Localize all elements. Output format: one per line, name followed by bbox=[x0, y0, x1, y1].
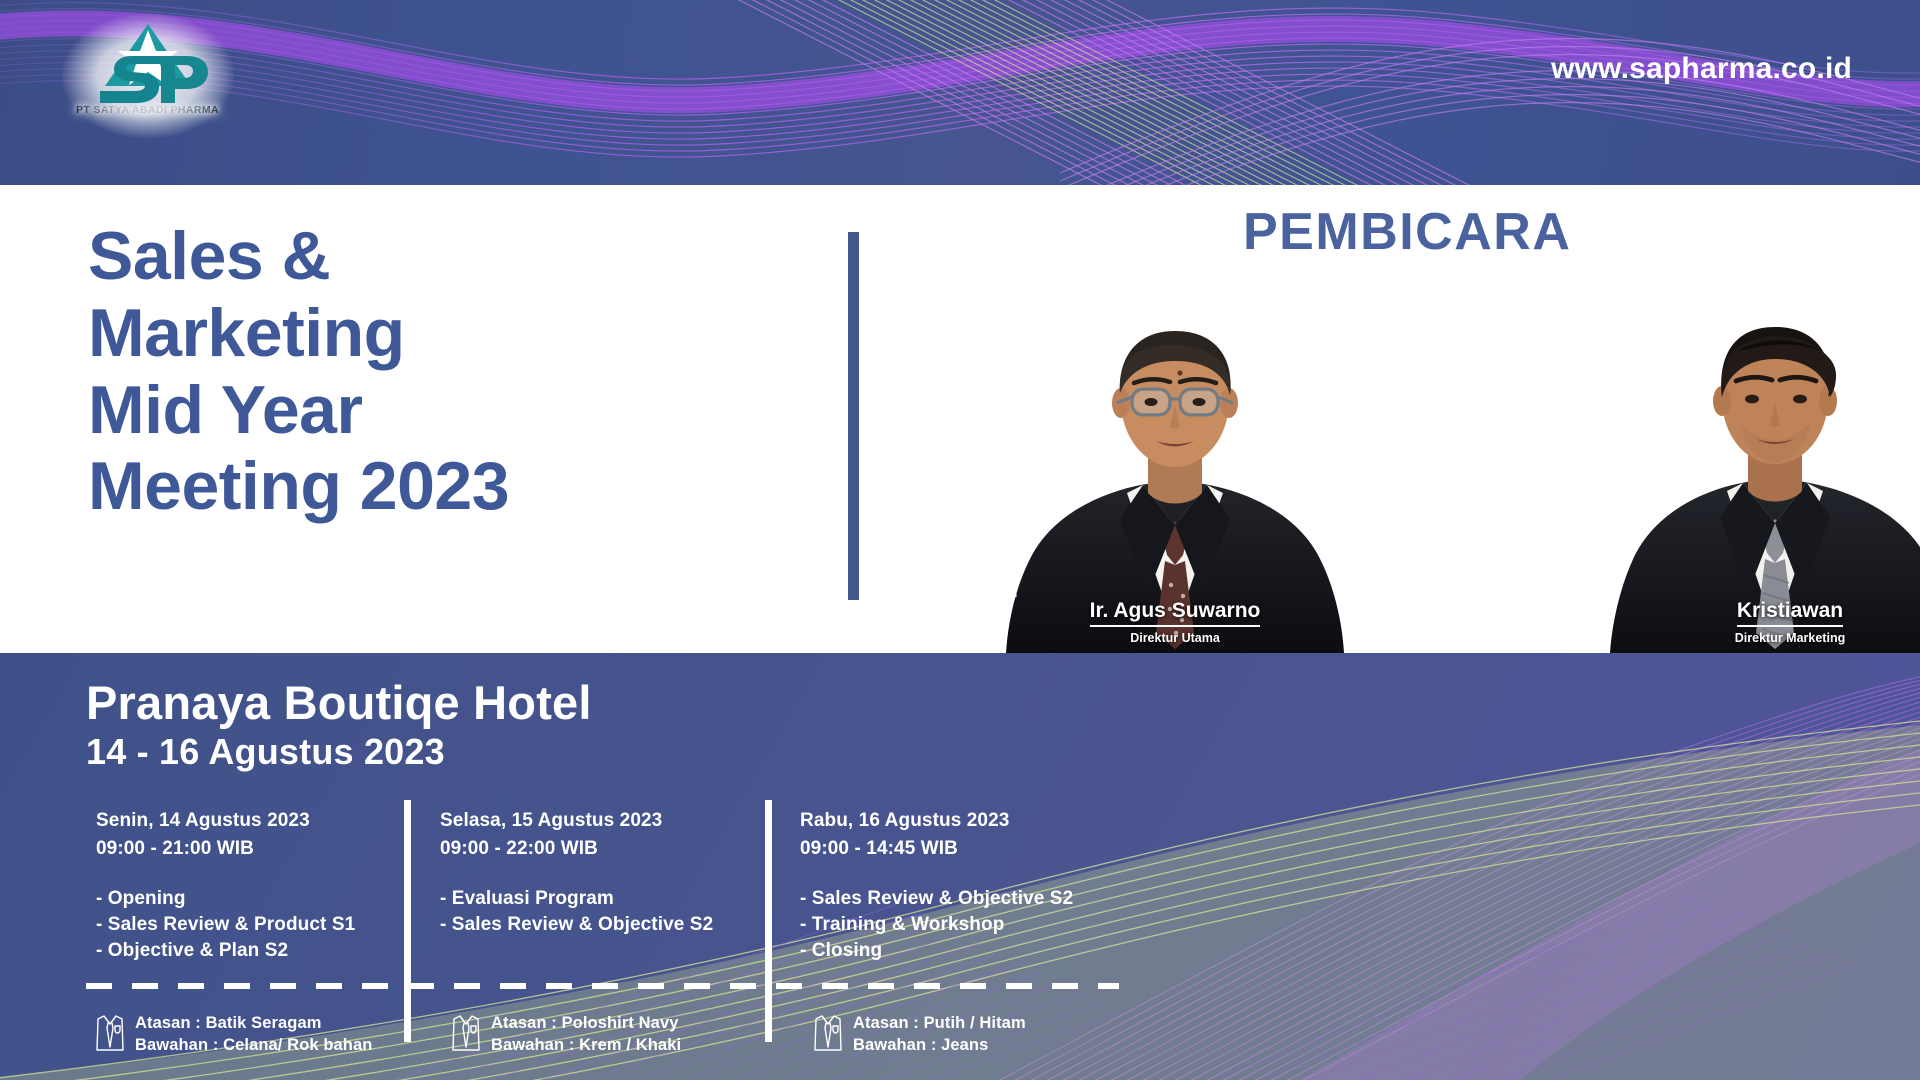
agenda-list: - Opening - Sales Review & Product S1 - … bbox=[96, 886, 396, 964]
column-divider-1 bbox=[404, 800, 411, 1042]
dress-bottom: Bawahan : Celana/ Rok bahan bbox=[135, 1034, 372, 1056]
agenda-list: - Sales Review & Objective S2 - Training… bbox=[800, 886, 1120, 964]
speaker-role: Direktur Utama bbox=[980, 631, 1370, 645]
main-section: Sales & Marketing Mid Year Meeting 2023 … bbox=[0, 185, 1920, 653]
agenda-list: - Evaluasi Program - Sales Review & Obje… bbox=[440, 886, 760, 938]
shirt-tie-icon bbox=[812, 1013, 844, 1053]
header-band: PT SATYA ABADI PHARMA www.sapharma.co.id bbox=[0, 0, 1920, 185]
speaker-role: Direktur Marketing bbox=[1600, 631, 1920, 645]
agenda-item: - Sales Review & Objective S2 bbox=[440, 912, 760, 938]
dress-code-1: Atasan : Batik Seragam Bawahan : Celana/… bbox=[94, 1012, 372, 1056]
sap-triangle-star-logo-icon bbox=[73, 20, 223, 108]
dress-top: Atasan : Poloshirt Navy bbox=[491, 1012, 681, 1034]
column-divider-2 bbox=[765, 800, 772, 1042]
agenda-item: - Closing bbox=[800, 938, 1120, 964]
title-line-1: Sales & bbox=[88, 218, 509, 295]
header-wave-decoration bbox=[0, 0, 1920, 185]
schedule-column-3: Rabu, 16 Agustus 2023 09:00 - 14:45 WIB … bbox=[800, 810, 1120, 964]
schedule-day: Rabu, 16 Agustus 2023 bbox=[800, 810, 1120, 832]
schedule-time: 09:00 - 22:00 WIB bbox=[440, 838, 760, 860]
agenda-item: - Evaluasi Program bbox=[440, 886, 760, 912]
title-line-4: Meeting 2023 bbox=[88, 448, 509, 525]
schedule-time: 09:00 - 14:45 WIB bbox=[800, 838, 1120, 860]
company-logo: PT SATYA ABADI PHARMA bbox=[70, 20, 225, 130]
schedule-day: Senin, 14 Agustus 2023 bbox=[96, 810, 396, 832]
dress-code-3: Atasan : Putih / Hitam Bawahan : Jeans bbox=[812, 1012, 1026, 1056]
poster-canvas: PT SATYA ABADI PHARMA www.sapharma.co.id… bbox=[0, 0, 1920, 1080]
agenda-item: - Sales Review & Objective S2 bbox=[800, 886, 1120, 912]
dress-bottom: Bawahan : Jeans bbox=[853, 1034, 1026, 1056]
dress-code-2: Atasan : Poloshirt Navy Bawahan : Krem /… bbox=[450, 1012, 681, 1056]
agenda-item: - Objective & Plan S2 bbox=[96, 938, 396, 964]
schedule-day: Selasa, 15 Agustus 2023 bbox=[440, 810, 760, 832]
speaker-card-1: Ir. Agus Suwarno Direktur Utama bbox=[980, 293, 1370, 653]
dress-code-text: Atasan : Batik Seragam Bawahan : Celana/… bbox=[135, 1012, 372, 1056]
agenda-item: - Training & Workshop bbox=[800, 912, 1120, 938]
speaker-caption-1: Ir. Agus Suwarno Direktur Utama bbox=[980, 599, 1370, 645]
shirt-tie-icon bbox=[94, 1013, 126, 1053]
agenda-item: - Sales Review & Product S1 bbox=[96, 912, 396, 938]
dress-bottom: Bawahan : Krem / Khaki bbox=[491, 1034, 681, 1056]
agenda-item: - Opening bbox=[96, 886, 396, 912]
speakers-heading: PEMBICARA bbox=[1243, 202, 1571, 262]
dress-top: Atasan : Putih / Hitam bbox=[853, 1012, 1026, 1034]
dashed-separator bbox=[86, 983, 1119, 989]
vertical-divider bbox=[848, 232, 859, 600]
page-title: Sales & Marketing Mid Year Meeting 2023 bbox=[88, 218, 509, 525]
title-line-3: Mid Year bbox=[88, 372, 509, 449]
footer-band: Pranaya Boutiqe Hotel 14 - 16 Agustus 20… bbox=[0, 653, 1920, 1080]
dress-top: Atasan : Batik Seragam bbox=[135, 1012, 372, 1034]
dress-code-text: Atasan : Putih / Hitam Bawahan : Jeans bbox=[853, 1012, 1026, 1056]
schedule-time: 09:00 - 21:00 WIB bbox=[96, 838, 396, 860]
speaker-name: Ir. Agus Suwarno bbox=[1090, 599, 1261, 627]
schedule-column-1: Senin, 14 Agustus 2023 09:00 - 21:00 WIB… bbox=[96, 810, 396, 964]
website-url[interactable]: www.sapharma.co.id bbox=[1551, 52, 1852, 86]
title-line-2: Marketing bbox=[88, 295, 509, 372]
dress-code-text: Atasan : Poloshirt Navy Bawahan : Krem /… bbox=[491, 1012, 681, 1056]
shirt-tie-icon bbox=[450, 1013, 482, 1053]
speaker-name: Kristiawan bbox=[1737, 599, 1843, 627]
schedule-column-2: Selasa, 15 Agustus 2023 09:00 - 22:00 WI… bbox=[440, 810, 760, 938]
speaker-card-2: Kristiawan Direktur Marketing bbox=[1600, 293, 1920, 653]
speaker-caption-2: Kristiawan Direktur Marketing bbox=[1600, 599, 1920, 645]
